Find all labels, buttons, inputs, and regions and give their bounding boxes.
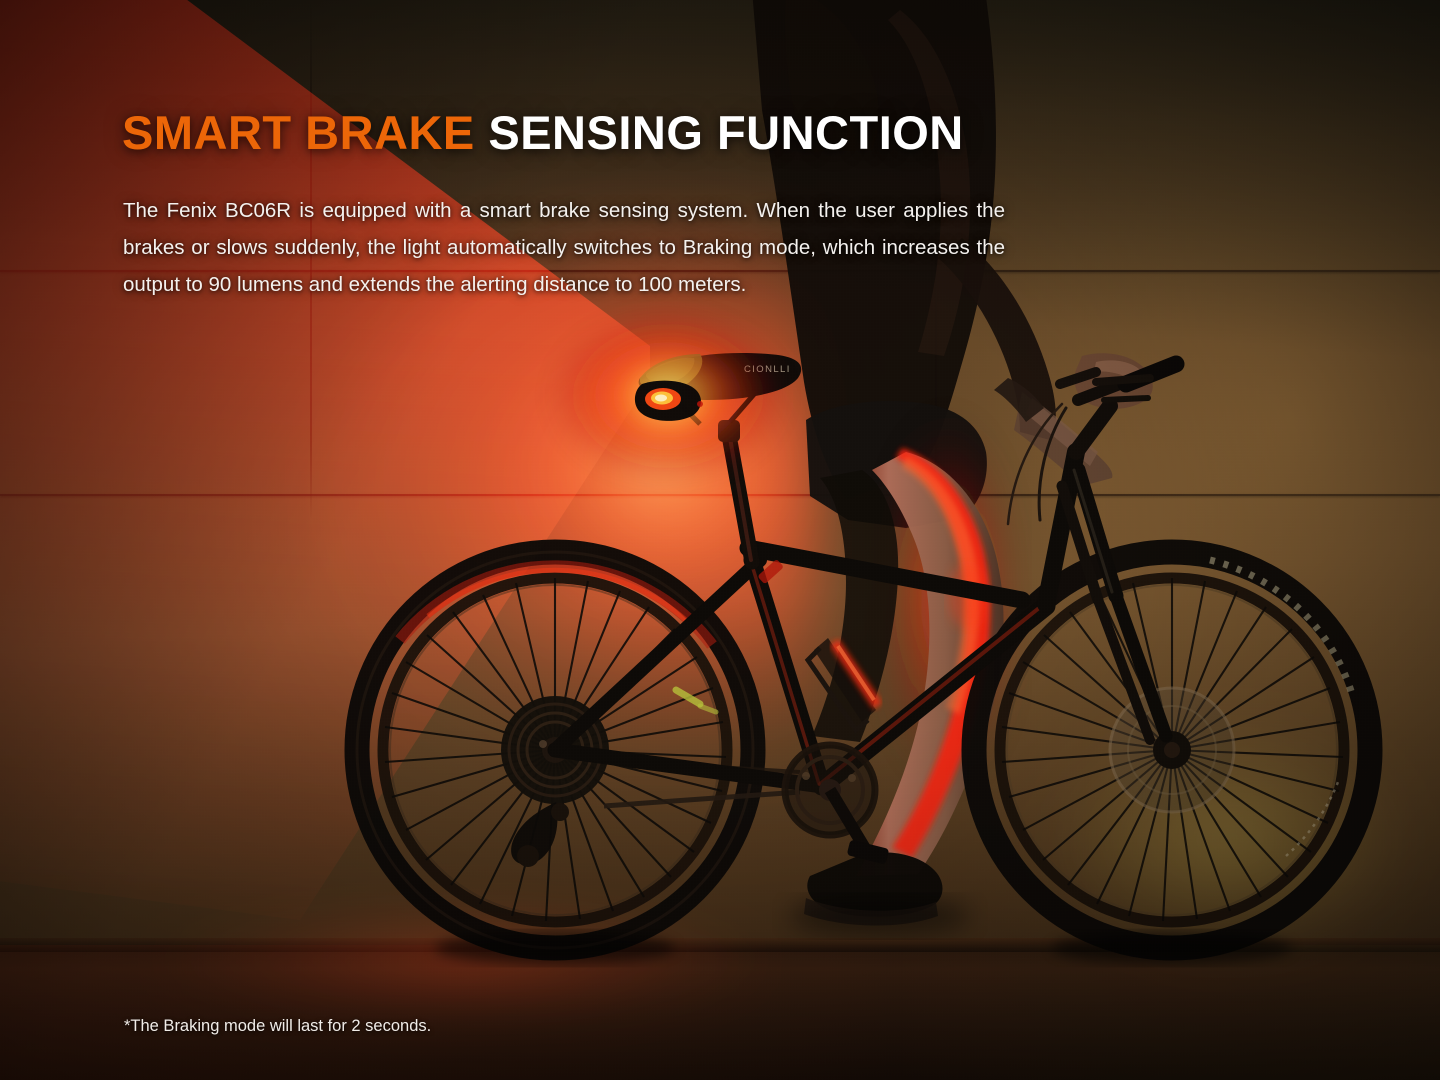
- page-title: SMART BRAKE SENSING FUNCTION: [122, 108, 964, 158]
- title-highlight: SMART BRAKE: [122, 106, 475, 159]
- bicycle-and-rider-photo: CIONLLI: [0, 0, 1440, 1080]
- tail-light: [548, 310, 788, 482]
- description-paragraph: The Fenix BC06R is equipped with a smart…: [123, 192, 1005, 303]
- footnote-text: *The Braking mode will last for 2 second…: [124, 1017, 431, 1036]
- title-rest: SENSING FUNCTION: [475, 106, 964, 159]
- crankset: [785, 745, 889, 865]
- promo-banner: CIONLLI: [0, 0, 1440, 1080]
